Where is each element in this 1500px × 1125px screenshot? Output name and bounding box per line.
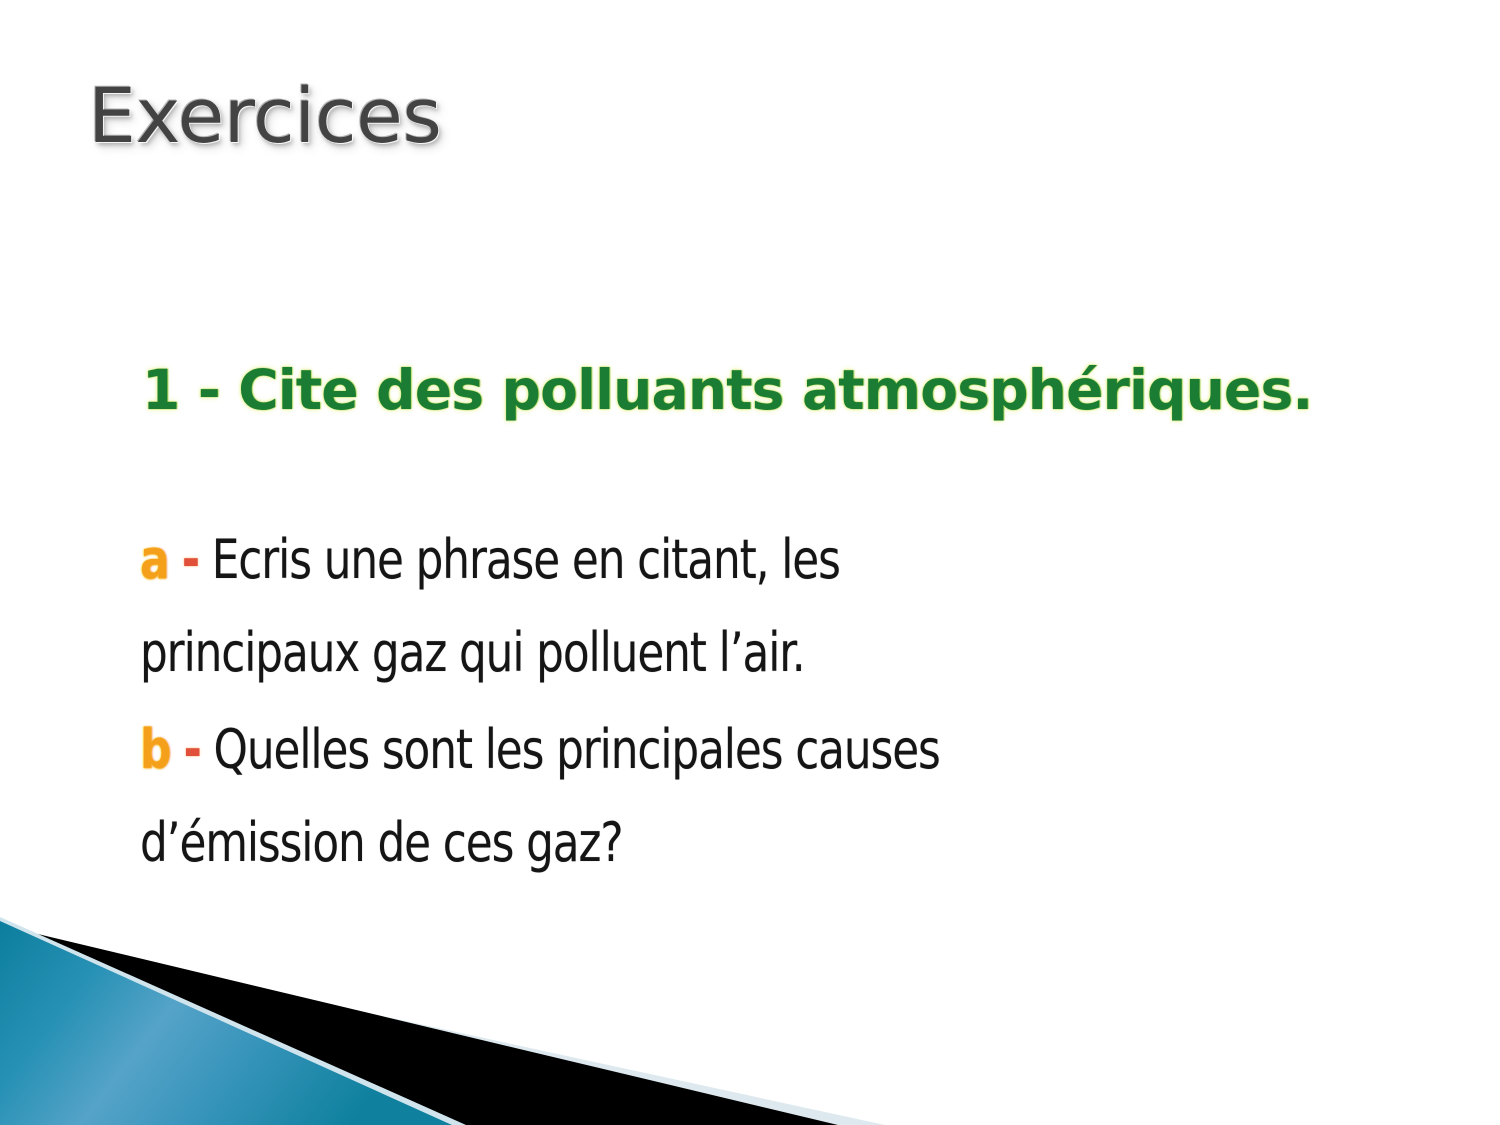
- item-a-line-1: a - Ecris une phrase en citant, les: [140, 528, 840, 591]
- teal-stripe-texture: [0, 921, 452, 1125]
- teal-highlight-edge: [0, 917, 466, 1125]
- item-marker-a: a: [140, 528, 169, 591]
- item-b-line-1: b - Quelles sont les principales causes: [140, 718, 940, 781]
- item-a-text-1: Ecris une phrase en citant, les: [212, 528, 840, 591]
- item-marker-a-dash: -: [182, 528, 199, 591]
- pale-blue-band: [0, 933, 885, 1125]
- item-marker-b-dash: -: [184, 718, 201, 781]
- item-b-text-1: Quelles sont les principales causes: [214, 718, 940, 781]
- item-b-line-2: d’émission de ces gaz?: [140, 811, 622, 874]
- page-title: Exercices: [88, 78, 442, 154]
- angles-bands-svg: [0, 915, 1500, 1125]
- item-marker-b: b: [140, 718, 171, 781]
- black-band: [0, 925, 838, 1125]
- item-a-line-2: principaux gaz qui polluent l’air.: [140, 621, 805, 684]
- exercise-heading: 1 - Cite des polluants atmosphériques.: [142, 358, 1312, 422]
- teal-triangle: [0, 921, 452, 1125]
- corner-decoration: [0, 915, 1500, 1125]
- slide-canvas: Exercices 1 - Cite des polluants atmosph…: [0, 0, 1500, 1125]
